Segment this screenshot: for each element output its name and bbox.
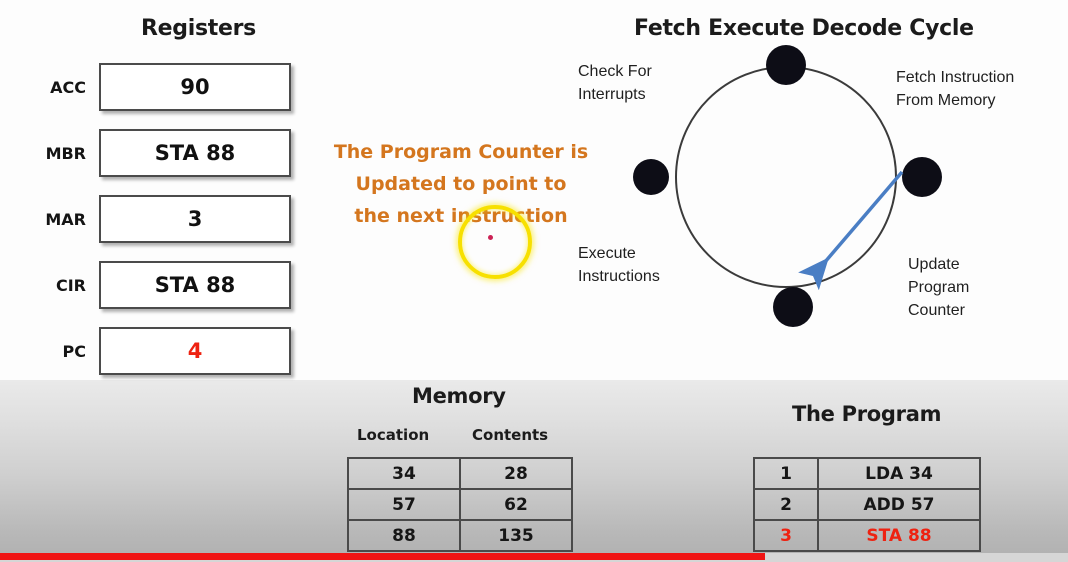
cycle-label-execute-line-1: Execute — [578, 242, 660, 265]
program-line-number-cell: 1 — [754, 458, 818, 489]
annotation-line-2: Updated to point to — [330, 168, 592, 200]
program-instruction-cell: STA 88 — [818, 520, 980, 551]
register-label-acc: ACC — [16, 63, 86, 113]
memory-location-cell: 34 — [348, 458, 460, 489]
cycle-title: Fetch Execute Decode Cycle — [634, 16, 974, 41]
memory-location-cell: 57 — [348, 489, 460, 520]
register-box-pc[interactable]: 4 — [99, 327, 291, 375]
cycle-label-check-for-interrupts: Check For Interrupts — [578, 60, 652, 106]
register-value-mbr: STA 88 — [101, 131, 289, 175]
register-value-pc: 4 — [101, 329, 289, 373]
memory-contents-cell: 135 — [460, 520, 572, 551]
program-table: 1 LDA 34 2 ADD 57 3 STA 88 — [753, 457, 981, 552]
register-row-pc: PC 4 — [16, 327, 306, 377]
register-value-acc: 90 — [101, 65, 289, 109]
cycle-label-check-line-1: Check For — [578, 60, 652, 83]
register-row-acc: ACC 90 — [16, 63, 306, 113]
registers-title: Registers — [141, 16, 256, 41]
program-line-number-cell: 3 — [754, 520, 818, 551]
table-row[interactable]: 34 28 — [348, 458, 572, 489]
cursor-highlight-ring — [458, 205, 532, 279]
register-box-cir[interactable]: STA 88 — [99, 261, 291, 309]
register-label-mbr: MBR — [16, 129, 86, 179]
cycle-label-update-line-1: Update — [908, 253, 969, 276]
memory-location-cell: 88 — [348, 520, 460, 551]
table-row[interactable]: 3 STA 88 — [754, 520, 980, 551]
memory-column-header-contents: Contents — [472, 426, 548, 444]
cycle-label-update-line-2: Program — [908, 276, 969, 299]
annotation-line-1: The Program Counter is — [330, 136, 592, 168]
register-box-mar[interactable]: 3 — [99, 195, 291, 243]
register-row-mbr: MBR STA 88 — [16, 129, 306, 179]
memory-contents-cell: 28 — [460, 458, 572, 489]
table-row[interactable]: 88 135 — [348, 520, 572, 551]
register-box-mbr[interactable]: STA 88 — [99, 129, 291, 177]
register-value-mar: 3 — [101, 197, 289, 241]
cycle-label-check-line-2: Interrupts — [578, 83, 652, 106]
register-box-acc[interactable]: 90 — [99, 63, 291, 111]
memory-contents-cell: 62 — [460, 489, 572, 520]
program-instruction-cell: LDA 34 — [818, 458, 980, 489]
register-value-cir: STA 88 — [101, 263, 289, 307]
cycle-label-fetch-instruction: Fetch Instruction From Memory — [896, 66, 1014, 112]
register-row-cir: CIR STA 88 — [16, 261, 306, 311]
video-progress-fill[interactable] — [0, 553, 765, 560]
cursor-pointer-dot — [488, 235, 493, 240]
cycle-label-update-program-counter: Update Program Counter — [908, 253, 969, 322]
cycle-label-fetch-line-2: From Memory — [896, 89, 1014, 112]
cycle-label-execute-instructions: Execute Instructions — [578, 242, 660, 288]
program-counter-annotation: The Program Counter is Updated to point … — [330, 136, 592, 232]
register-row-mar: MAR 3 — [16, 195, 306, 245]
program-title: The Program — [792, 402, 941, 426]
cycle-label-fetch-line-1: Fetch Instruction — [896, 66, 1014, 89]
cycle-label-execute-line-2: Instructions — [578, 265, 660, 288]
table-row[interactable]: 2 ADD 57 — [754, 489, 980, 520]
memory-title: Memory — [412, 384, 506, 408]
register-label-pc: PC — [16, 327, 86, 377]
memory-table: 34 28 57 62 88 135 — [347, 457, 573, 552]
slide-canvas: Registers ACC 90 MBR STA 88 MAR 3 CIR ST… — [0, 0, 1068, 562]
program-line-number-cell: 2 — [754, 489, 818, 520]
cycle-label-update-line-3: Counter — [908, 299, 969, 322]
register-label-cir: CIR — [16, 261, 86, 311]
table-row[interactable]: 57 62 — [348, 489, 572, 520]
table-row[interactable]: 1 LDA 34 — [754, 458, 980, 489]
register-label-mar: MAR — [16, 195, 86, 245]
program-instruction-cell: ADD 57 — [818, 489, 980, 520]
memory-column-header-location: Location — [357, 426, 429, 444]
